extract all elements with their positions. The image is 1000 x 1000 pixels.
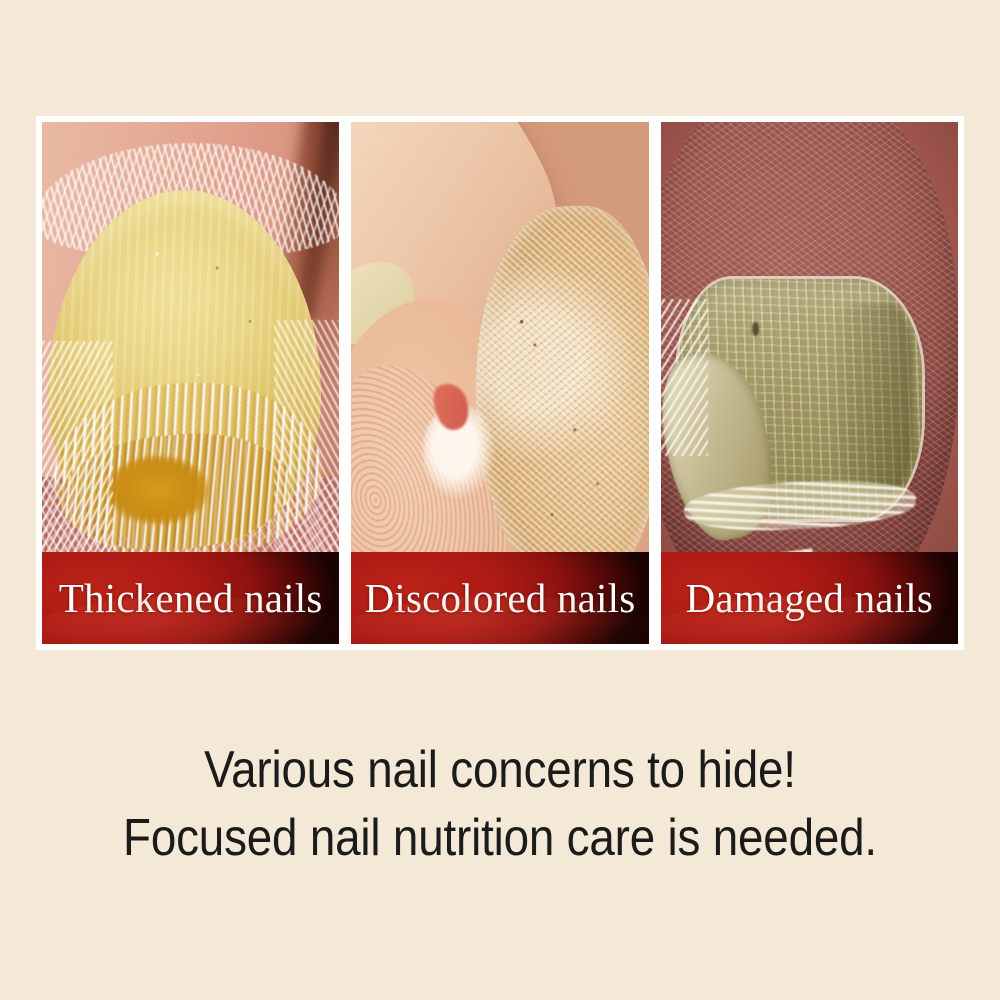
nail-fray-right <box>274 320 339 571</box>
headline-line-2: Focused nail nutrition care is needed. <box>60 804 940 872</box>
caption-band-damaged: Damaged nails <box>661 552 958 644</box>
nail-dark-spot <box>752 322 759 336</box>
nail-condition-gallery: Thickened nails Discolored nails <box>36 116 964 650</box>
caption-label-thickened: Thickened nails <box>42 574 339 622</box>
panel-discolored-nails: Discolored nails <box>351 122 648 644</box>
panel-damaged-nails: Damaged nails <box>661 122 958 644</box>
caption-label-damaged: Damaged nails <box>661 574 958 622</box>
nail-flake-left <box>661 299 709 456</box>
nail-fray-left <box>42 341 113 571</box>
keratin-debris <box>107 456 208 524</box>
panel-thickened-nails: Thickened nails <box>42 122 339 644</box>
headline-line-1: Various nail concerns to hide! <box>60 736 940 804</box>
poster-root: Thickened nails Discolored nails <box>0 0 1000 1000</box>
nail-dark-zone <box>830 303 913 495</box>
headline-block: Various nail concerns to hide! Focused n… <box>0 736 1000 872</box>
caption-label-discolored: Discolored nails <box>351 574 648 622</box>
caption-band-discolored: Discolored nails <box>351 552 648 644</box>
caption-band-thickened: Thickened nails <box>42 552 339 644</box>
